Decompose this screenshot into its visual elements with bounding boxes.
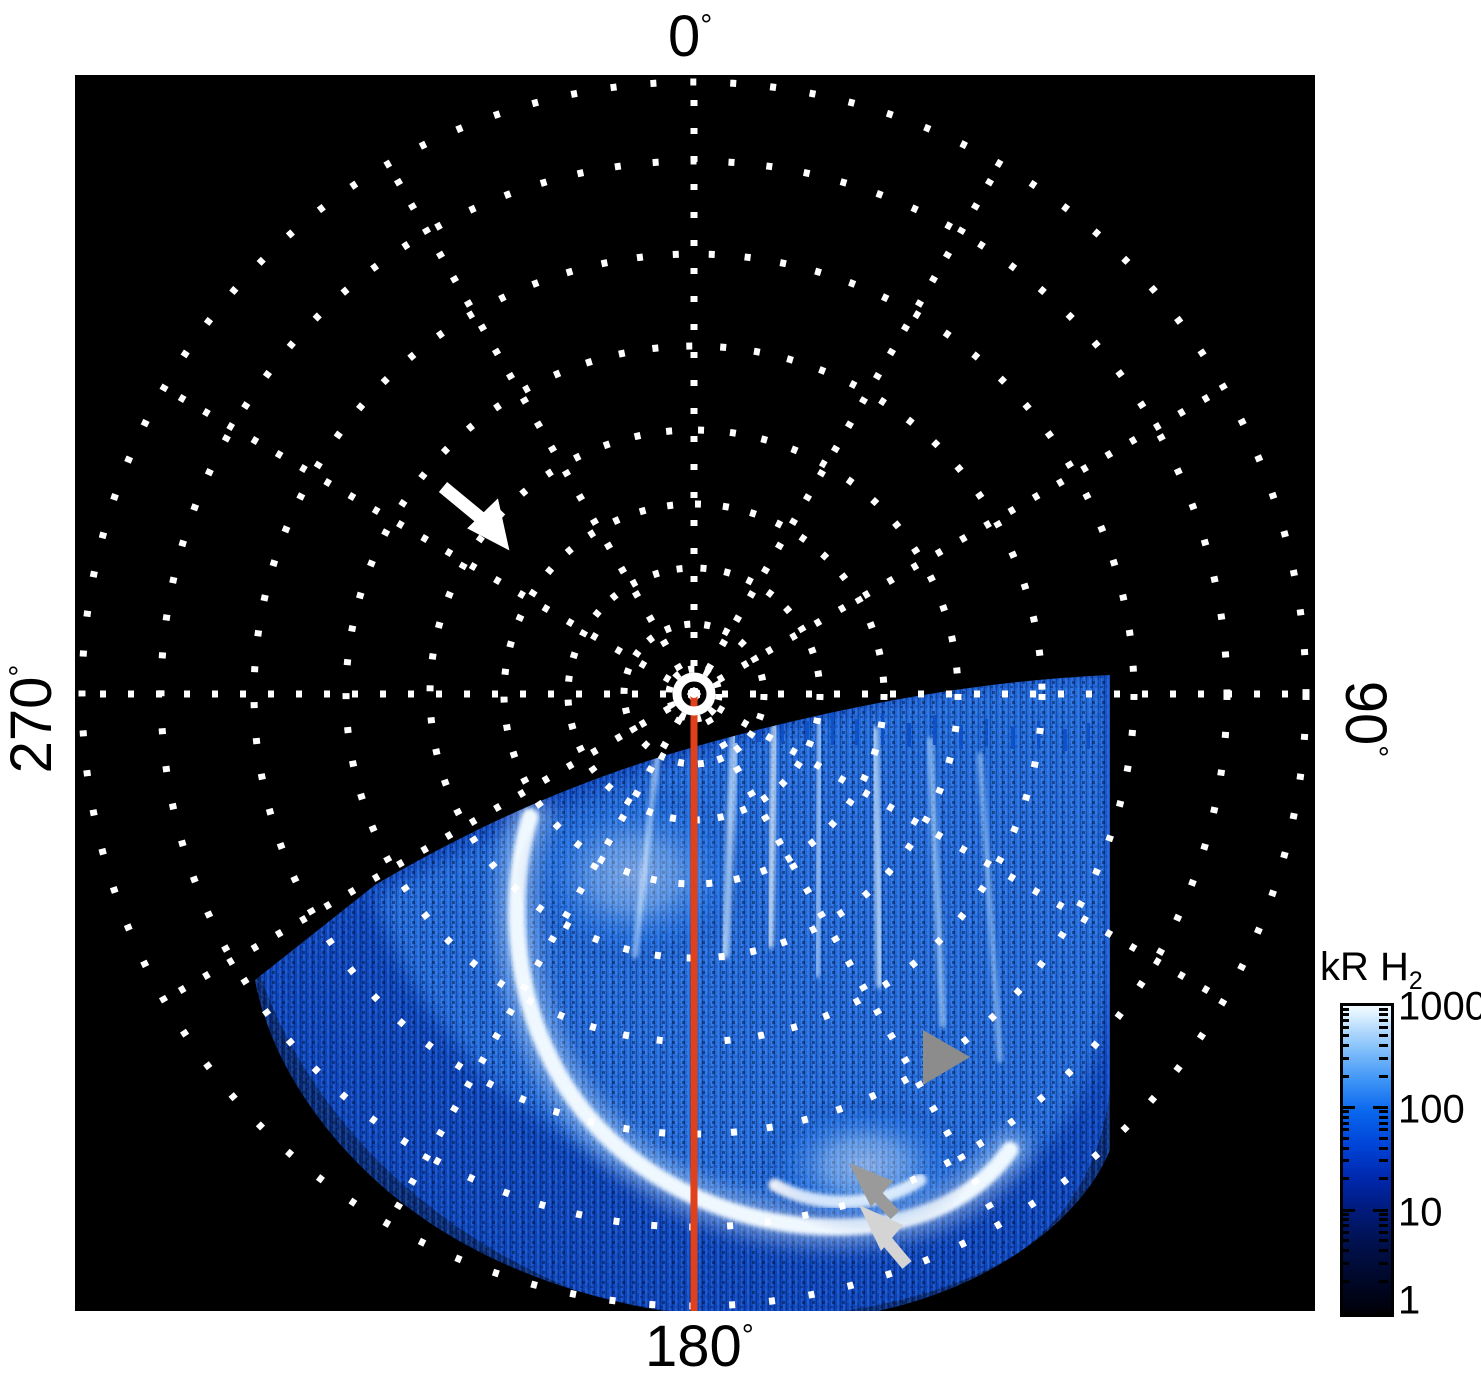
colorbar-tick-10-right (1373, 1209, 1388, 1212)
colorbar-minor-tick-left (1340, 1013, 1349, 1016)
colorbar-minor-tick-left (1340, 1057, 1349, 1060)
colorbar-minor-tick-left (1340, 1218, 1349, 1221)
colorbar-minor-tick-right (1379, 1224, 1388, 1227)
colorbar-minor-tick-right (1379, 1159, 1388, 1162)
colorbar-minor-tick-right (1379, 1044, 1388, 1047)
colorbar-minor-tick-right (1379, 1231, 1388, 1234)
colorbar-minor-tick-left (1340, 1075, 1349, 1078)
axis-label-270-value: 270 (0, 677, 64, 774)
degree-symbol-right: ° (1359, 745, 1392, 757)
colorbar-minor-tick-left (1340, 1249, 1349, 1252)
colorbar-minor-tick-right (1379, 1147, 1388, 1150)
colorbar-minor-tick-right (1379, 1026, 1388, 1029)
colorbar-minor-tick-right (1379, 1177, 1388, 1180)
degree-symbol-left: ° (5, 665, 38, 677)
colorbar-minor-tick-right (1379, 1116, 1388, 1119)
colorbar-tick-1000-right (1373, 1003, 1388, 1006)
degree-symbol-bottom: ° (742, 1320, 754, 1353)
colorbar-minor-tick-right (1379, 1075, 1388, 1078)
colorbar-tick-100-left (1340, 1106, 1355, 1109)
colorbar-minor-tick-right (1379, 1239, 1388, 1242)
degree-symbol-top: ° (700, 10, 712, 43)
colorbar-minor-tick-left (1340, 1044, 1349, 1047)
colorbar-minor-tick-left (1340, 1019, 1349, 1022)
colorbar-minor-tick-left (1340, 1128, 1349, 1131)
colorbar-minor-tick-left (1340, 1177, 1349, 1180)
axis-label-270-deg: 270° (3, 639, 61, 799)
axis-label-90-deg: 90° (1336, 639, 1394, 799)
colorbar-tick-1000-left (1340, 1003, 1355, 1006)
colorbar-minor-tick-left (1340, 1231, 1349, 1234)
colorbar-minor-tick-right (1379, 1008, 1388, 1011)
colorbar-minor-tick-right (1379, 1013, 1388, 1016)
colorbar-tick-100-right (1373, 1106, 1388, 1109)
colorbar-minor-tick-right (1379, 1057, 1388, 1060)
colorbar-minor-tick-right (1379, 1218, 1388, 1221)
colorbar-minor-tick-left (1340, 1280, 1349, 1283)
colorbar-minor-tick-left (1340, 1008, 1349, 1011)
polar-plot-panel (75, 75, 1315, 1311)
colorbar-tick-1-right (1373, 1311, 1388, 1314)
colorbar-minor-tick-right (1379, 1128, 1388, 1131)
colorbar-minor-tick-right (1379, 1249, 1388, 1252)
colorbar-label-10: 10 (1398, 1191, 1443, 1236)
colorbar-minor-tick-left (1340, 1224, 1349, 1227)
colorbar-minor-tick-left (1340, 1147, 1349, 1150)
colorbar-label-1: 1 (1398, 1279, 1420, 1324)
colorbar-minor-tick-right (1379, 1280, 1388, 1283)
axis-label-180-value: 180 (645, 1314, 742, 1379)
colorbar-tick-10-left (1340, 1209, 1355, 1212)
colorbar-minor-tick-right (1379, 1262, 1388, 1265)
colorbar-minor-tick-right (1379, 1019, 1388, 1022)
figure-root: 0° 180° 270° 90° (0, 0, 1481, 1386)
colorbar-minor-tick-right (1379, 1034, 1388, 1037)
colorbar-minor-tick-left (1340, 1213, 1349, 1216)
colorbar-minor-tick-left (1340, 1110, 1349, 1113)
colorbar-label-1000: 1000 (1398, 985, 1481, 1030)
colorbar-minor-tick-left (1340, 1137, 1349, 1140)
colorbar-title-text: kR H (1320, 945, 1409, 989)
colorbar-minor-tick-left (1340, 1239, 1349, 1242)
colorbar-minor-tick-left (1340, 1262, 1349, 1265)
colorbar-minor-tick-right (1379, 1122, 1388, 1125)
axis-label-0-value: 0 (668, 4, 700, 69)
colorbar-minor-tick-left (1340, 1116, 1349, 1119)
colorbar-minor-tick-right (1379, 1110, 1388, 1113)
eastern-data-cut (1111, 635, 1315, 1311)
axis-label-180-deg: 180° (645, 1318, 754, 1376)
colorbar-minor-tick-left (1340, 1122, 1349, 1125)
axis-label-0-deg: 0° (668, 8, 712, 66)
colorbar-minor-tick-right (1379, 1137, 1388, 1140)
colorbar-minor-tick-left (1340, 1159, 1349, 1162)
colorbar-minor-tick-left (1340, 1026, 1349, 1029)
colorbar-label-100: 100 (1398, 1088, 1465, 1133)
axis-label-90-value: 90 (1333, 681, 1398, 746)
pole-center-dot (690, 690, 698, 698)
colorbar-tick-1-left (1340, 1311, 1355, 1314)
polar-plot-canvas (75, 75, 1315, 1311)
colorbar-minor-tick-right (1379, 1213, 1388, 1216)
colorbar-minor-tick-left (1340, 1034, 1349, 1037)
